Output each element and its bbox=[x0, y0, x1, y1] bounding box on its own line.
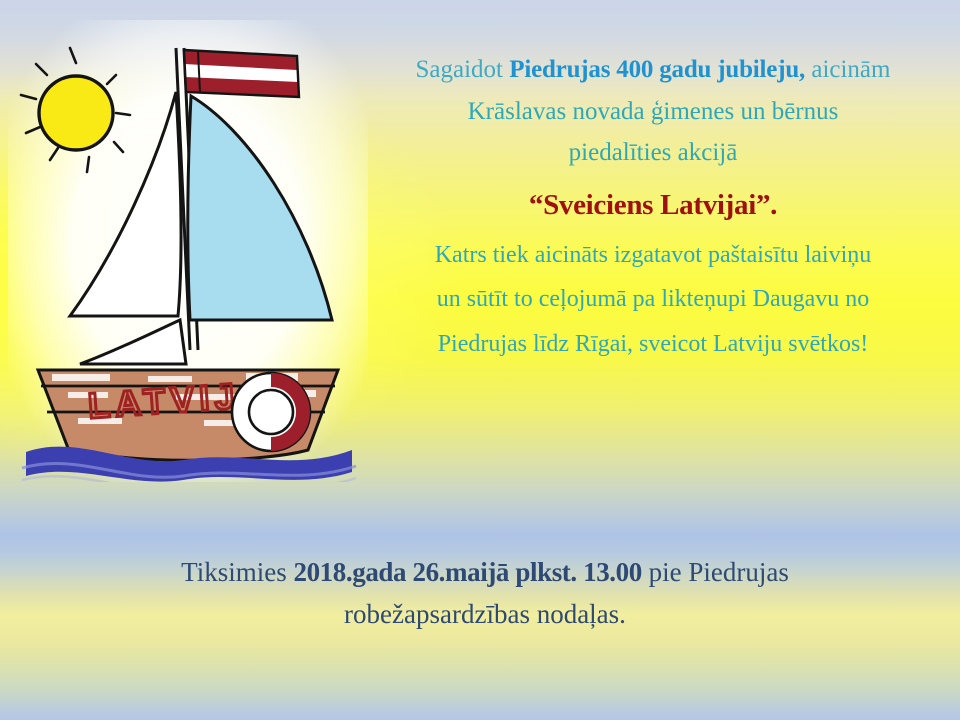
intro-line-1-suffix: aicinām bbox=[805, 56, 890, 83]
event-details-suffix: pie Piedrujas bbox=[642, 557, 789, 587]
sailboat-illustration: LATVIJA bbox=[8, 20, 368, 482]
life-ring-icon bbox=[232, 373, 310, 451]
body-line-3: Piedrujas līdz Rīgai, sveicot Latviju sv… bbox=[372, 327, 934, 363]
intro-line-1-prefix: Sagaidot bbox=[416, 56, 510, 83]
event-details-prefix: Tiksimies bbox=[181, 557, 293, 587]
main-text-block: Sagaidot Piedrujas 400 gadu jubileju, ai… bbox=[372, 52, 934, 371]
body-line-1: Katrs tiek aicināts izgatavot paštaisītu… bbox=[372, 238, 934, 274]
poster-canvas: LATVIJA Sagaidot Piedrujas 400 gadu jubi… bbox=[0, 0, 960, 720]
event-details-line-2: robežapsardzības nodaļas. bbox=[90, 594, 880, 636]
intro-line-1-emphasis: Piedrujas 400 gadu jubileju, bbox=[509, 56, 805, 83]
campaign-headline: “Sveiciens Latvijai”. bbox=[372, 189, 934, 222]
event-details-block: Tiksimies 2018.gada 26.maijā plkst. 13.0… bbox=[90, 552, 880, 636]
latvian-flag-icon bbox=[184, 50, 299, 97]
intro-line-2: Krāslavas novada ģimenes un bērnus bbox=[372, 94, 934, 130]
event-datetime: 2018.gada 26.maijā plkst. 13.00 bbox=[293, 557, 641, 587]
intro-line-3: piedalīties akcijā bbox=[372, 135, 934, 171]
body-line-2: un sūtīt to ceļojumā pa likteņupi Daugav… bbox=[372, 282, 934, 318]
intro-line-1: Sagaidot Piedrujas 400 gadu jubileju, ai… bbox=[372, 52, 934, 88]
event-details-line-1: Tiksimies 2018.gada 26.maijā plkst. 13.0… bbox=[90, 552, 880, 594]
